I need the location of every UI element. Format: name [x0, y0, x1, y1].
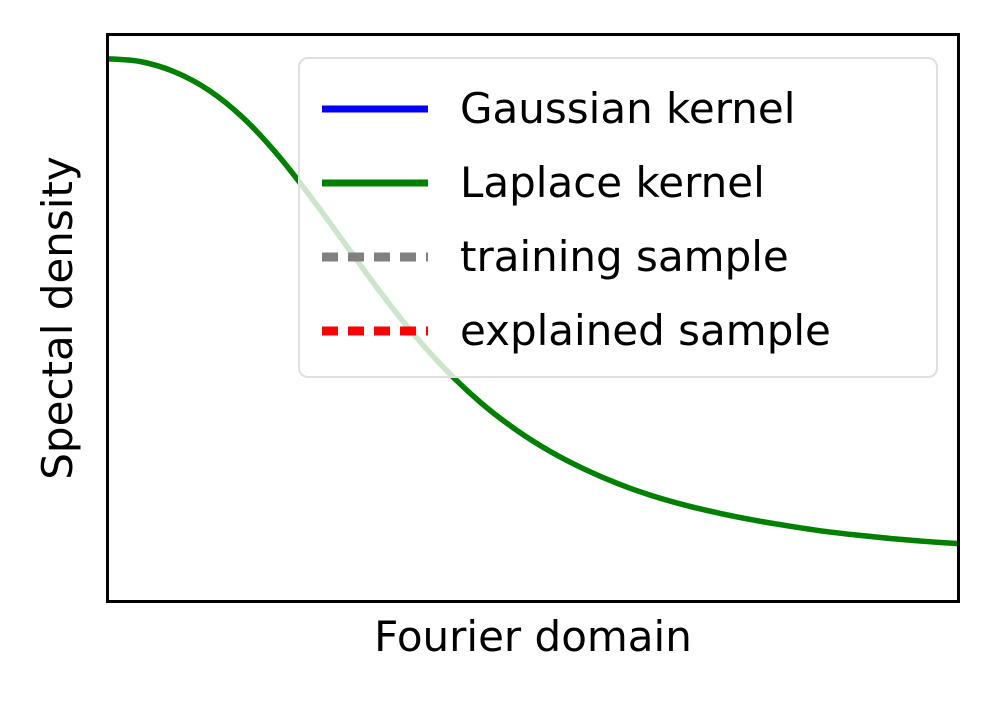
- legend-box: Gaussian kernel Laplace kernel training …: [298, 57, 938, 378]
- legend-entry-laplace-kernel: Laplace kernel: [300, 147, 936, 219]
- legend-entry-training-sample: training sample: [300, 221, 936, 293]
- y-axis-label: Spectal density: [30, 33, 86, 603]
- legend-dashed-line-icon: [320, 245, 430, 269]
- legend-label: Gaussian kernel: [460, 88, 795, 130]
- legend-entry-explained-sample: explained sample: [300, 295, 936, 367]
- legend-dashed-line-icon: [320, 319, 430, 343]
- legend-label: Laplace kernel: [460, 162, 765, 204]
- x-axis-label: Fourier domain: [106, 612, 960, 661]
- legend-label: explained sample: [460, 310, 831, 352]
- legend-label: training sample: [460, 236, 789, 278]
- legend-line-icon: [320, 171, 430, 195]
- legend-line-icon: [320, 97, 430, 121]
- figure-canvas: Spectal density Gaussian kernel Laplace …: [0, 0, 999, 710]
- legend-entry-gaussian-kernel: Gaussian kernel: [300, 73, 936, 145]
